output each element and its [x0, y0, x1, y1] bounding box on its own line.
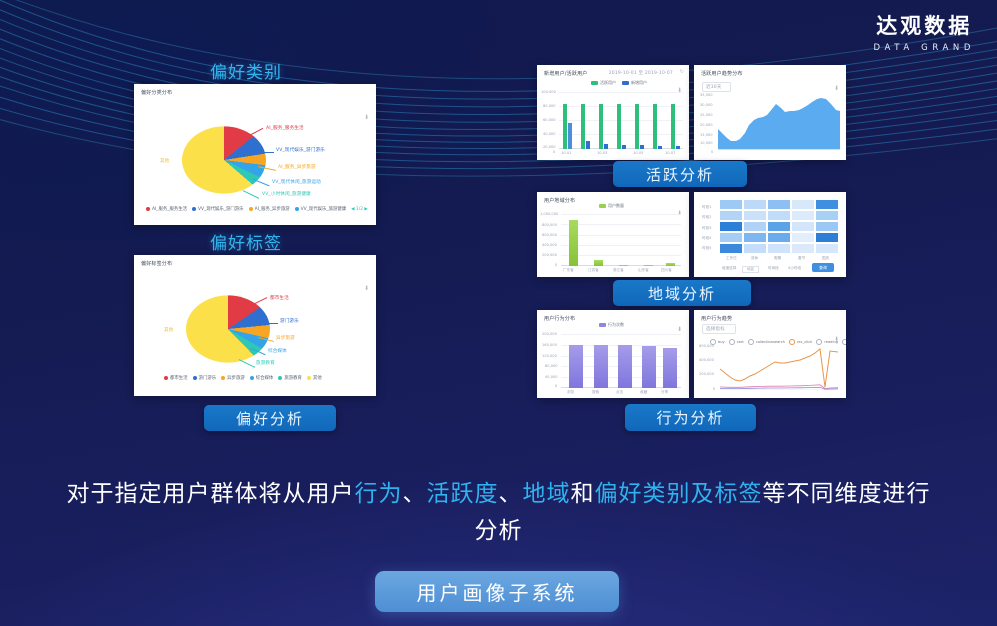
- pie-label: VV_小时休闲_旅游健康: [262, 191, 311, 197]
- card-title: 偏好分类分布: [141, 89, 172, 96]
- heatmap-cell[interactable]: [768, 211, 790, 220]
- heatmap-cell[interactable]: [744, 233, 766, 242]
- pie-slices: [186, 295, 270, 362]
- line-chart-behavior: [720, 346, 838, 390]
- query-button[interactable]: 查询: [812, 263, 834, 272]
- pie-label: VV_现代娱乐_游门游乐: [276, 147, 325, 153]
- legend-item: VV_现代娱乐_游门游乐: [192, 206, 244, 212]
- legend-item: 异步旅游: [221, 375, 245, 381]
- heatmap-cell[interactable]: [768, 233, 790, 242]
- card-title: 用户地域分布: [544, 197, 575, 204]
- para-seg: 、: [403, 481, 427, 507]
- card-pie-tag: 偏好标签分布 ⬇ 都市生活 游门游乐 异步旅游 综合媒体 旅游教育 其他 都市生…: [134, 255, 376, 396]
- legend-item[interactable]: rec_click: [789, 339, 812, 345]
- label-preference-tag: 偏好标签: [210, 229, 282, 254]
- heatmap-cell[interactable]: [768, 244, 790, 253]
- legend-item[interactable]: reading: [816, 339, 838, 345]
- card-title: 用户行为趋势: [701, 315, 732, 322]
- legend-item: VV_现代娱乐_旅游健康: [295, 206, 347, 212]
- area-chart-active: [718, 95, 840, 149]
- button-preference-analysis[interactable]: 偏好分析: [204, 405, 336, 431]
- pie-chart-category: [182, 118, 266, 202]
- heatmap-cell[interactable]: [792, 200, 814, 209]
- card-active-area: 活跃用户趋势分布 近30天 ⬇ 35,000 30,000 25,000 20,…: [694, 65, 846, 160]
- pie-label: 旅游教育: [256, 360, 275, 366]
- brand-logo: 达观数据 DATA GRAND: [874, 10, 975, 53]
- heatmap-cell[interactable]: [720, 233, 742, 242]
- card-region-heatmap: 地域热力分布 时段1: [694, 192, 846, 277]
- plot-area: [561, 334, 681, 388]
- heatmap-cell[interactable]: [816, 244, 838, 253]
- heatmap-cell[interactable]: [720, 222, 742, 231]
- heatmap-grid: [720, 200, 838, 253]
- legend-item[interactable]: cart: [729, 339, 744, 345]
- pie-label: VV_现代休闲_旅游运动: [272, 179, 321, 185]
- button-user-profile-subsystem[interactable]: 用户画像子系统: [375, 571, 619, 612]
- pie-label: 都市生活: [270, 295, 289, 301]
- pie-slices: [182, 126, 266, 193]
- heatmap-cell[interactable]: [792, 222, 814, 231]
- legend-item: AI_服务_异步旅游: [249, 206, 290, 212]
- chart-legend: 活跃用户 新增用户: [591, 80, 647, 86]
- card-title: 用户行为分布: [544, 315, 575, 322]
- label-preference-category: 偏好类别: [210, 58, 282, 83]
- para-seg: 、: [499, 481, 523, 507]
- download-icon[interactable]: ⬇: [677, 326, 682, 333]
- button-region-analysis[interactable]: 地域分析: [613, 280, 751, 306]
- legend-item: 行为次数: [599, 322, 624, 328]
- pie-label: 异步旅游: [276, 335, 295, 341]
- para-highlight-preference: 偏好类别及标签: [595, 481, 763, 507]
- heatmap-cell[interactable]: [768, 222, 790, 231]
- pie-legend: AI_服务_服务生活 VV_现代娱乐_游门游乐 AI_服务_异步旅游 VV_现代…: [146, 206, 368, 212]
- card-active-bars: 新增用户/活跃用户 2019-10-01 至 2019-10-07 ↻ ⬇ 活跃…: [537, 65, 689, 160]
- card-pie-category: 偏好分类分布 ⬇ AI_服务_服务生活 VV_现代娱乐_游门游乐 AI_服务_异…: [134, 84, 376, 225]
- heatmap-cell[interactable]: [720, 200, 742, 209]
- heatmap-cell[interactable]: [768, 200, 790, 209]
- legend-item: 综合媒体: [250, 375, 274, 381]
- chart-legend: 行为次数: [599, 322, 624, 328]
- description-paragraph: 对于指定用户群体将从用户行为、活跃度、地域和偏好类别及标签等不同维度进行分析: [60, 476, 937, 550]
- heatmap-cell[interactable]: [792, 233, 814, 242]
- brand-logo-cn: 达观数据: [874, 10, 975, 40]
- pie-label: 综合媒体: [268, 348, 287, 354]
- legend-item: 旅游教育: [278, 375, 302, 381]
- button-behavior-analysis[interactable]: 行为分析: [625, 404, 756, 431]
- legend-item: 游门游乐: [193, 375, 217, 381]
- brand-logo-en: DATA GRAND: [874, 43, 975, 53]
- download-icon[interactable]: ⬇: [364, 114, 369, 121]
- para-seg: 和: [571, 481, 595, 507]
- slide-canvas: 达观数据 DATA GRAND 偏好类别 偏好分类分布 ⬇ AI_服务_服务生活…: [0, 0, 997, 626]
- heatmap-cell[interactable]: [720, 211, 742, 220]
- para-highlight-region: 地域: [523, 481, 571, 507]
- date-range-filter[interactable]: 2019-10-01 至 2019-10-07: [609, 70, 673, 76]
- para-highlight-behavior: 行为: [355, 481, 403, 507]
- card-region-bars: 用户地域分布 ⬇ 用户数量 1,000,000 800,000 600,000 …: [537, 192, 689, 277]
- chart-legend: 用户数量: [599, 203, 624, 209]
- card-title: 偏好标签分布: [141, 260, 172, 267]
- heatmap-cell[interactable]: [744, 244, 766, 253]
- heatmap-cell[interactable]: [792, 244, 814, 253]
- pie-label: 其他: [160, 158, 169, 164]
- download-icon[interactable]: ⬇: [834, 85, 839, 92]
- pie-label: AI_服务_服务生活: [266, 125, 304, 131]
- pie-label: AI_服务_异步旅游: [278, 164, 316, 170]
- para-highlight-activity: 活跃度: [427, 481, 499, 507]
- heatmap-cell[interactable]: [744, 211, 766, 220]
- pie-chart-tag: [186, 287, 270, 371]
- heatmap-cell[interactable]: [744, 222, 766, 231]
- heatmap-cell[interactable]: [792, 211, 814, 220]
- card-behavior-lines: 用户行为趋势 选择指标 ⬇ buy cart collectionsearch …: [694, 310, 846, 398]
- pie-legend: 都市生活 游门游乐 异步旅游 综合媒体 旅游教育 其他: [164, 375, 322, 381]
- heatmap-cell[interactable]: [816, 233, 838, 242]
- leader-line: [254, 152, 274, 153]
- legend-item[interactable]: dislike: [842, 339, 846, 345]
- para-seg: 对于指定用户群体将从用户: [67, 481, 355, 507]
- card-behavior-bars: 用户行为分布 ⬇ 行为次数 200,000 160,000 120,000 80…: [537, 310, 689, 398]
- heatmap-cell[interactable]: [720, 244, 742, 253]
- pie-label: 游门游乐: [280, 318, 299, 324]
- legend-item: 新增用户: [622, 80, 647, 86]
- legend-item: 都市生活: [164, 375, 188, 381]
- pie-label: 其他: [164, 327, 173, 333]
- series-select[interactable]: 选择指标: [702, 324, 736, 334]
- legend-item: 用户数量: [599, 203, 624, 209]
- time-range-select[interactable]: 近30天: [702, 82, 731, 92]
- heatmap-cell[interactable]: [816, 200, 838, 209]
- legend-item[interactable]: collectionsearch: [748, 339, 785, 345]
- card-title: 新增用户/活跃用户: [544, 70, 588, 77]
- legend-item: AI_服务_服务生活: [146, 206, 187, 212]
- download-icon[interactable]: ⬇: [364, 285, 369, 292]
- refresh-icon[interactable]: ↻: [680, 69, 684, 75]
- legend-paging[interactable]: ◀ 1/2 ▶: [351, 207, 368, 212]
- heatmap-cell[interactable]: [816, 222, 838, 231]
- legend-item: 其他: [307, 375, 322, 381]
- leader-line: [260, 323, 278, 324]
- card-title: 活跃用户趋势分布: [701, 70, 743, 77]
- plot-area: [559, 92, 683, 149]
- heatmap-cell[interactable]: [744, 200, 766, 209]
- legend-item: 活跃用户: [591, 80, 616, 86]
- plot-area: [561, 214, 681, 266]
- button-activity-analysis[interactable]: 活跃分析: [613, 161, 747, 187]
- heatmap-cell[interactable]: [816, 211, 838, 220]
